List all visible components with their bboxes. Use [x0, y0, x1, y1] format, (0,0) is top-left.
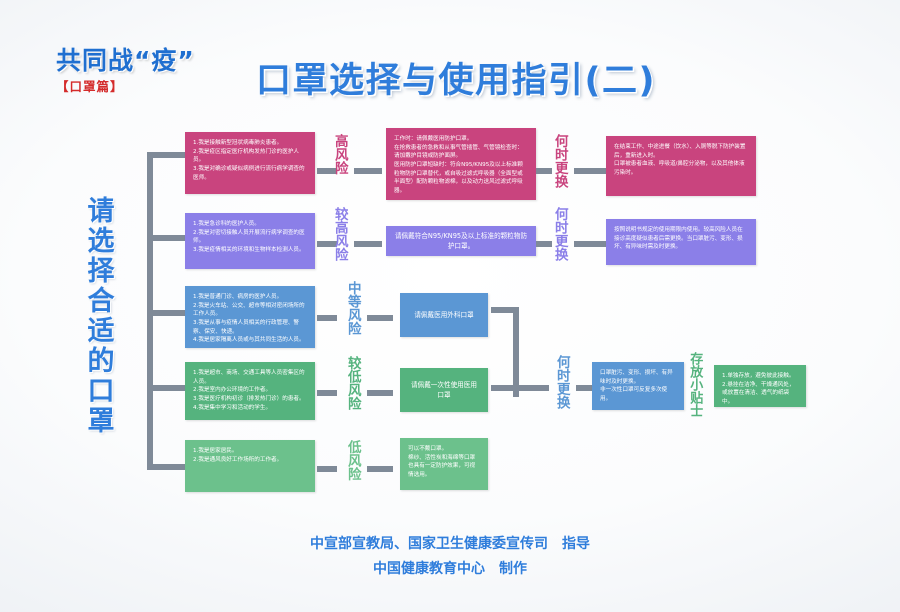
connector-risk-mask-4 — [367, 390, 393, 396]
people-text-low: 1.我是居家居民。 2.我是通风良好工作场所的工作者。 — [193, 447, 307, 464]
when-text-lower: 口罩脏污、变形、损坏、有异味时及时更换。 非一次性口罩可反复多次使用。 — [600, 369, 676, 404]
merge-bracket-out-arm — [513, 385, 549, 391]
mask-box-fairly-low: 请佩戴一次性使用医用口罩 — [400, 368, 488, 412]
when-label-high: 何时更换 — [552, 134, 566, 188]
connector-mask-when-2 — [536, 241, 552, 247]
connector-people-risk-3 — [317, 315, 337, 321]
connector-when-detail-1 — [574, 168, 606, 174]
when-box-lower: 口罩脏污、变形、损坏、有异味时及时更换。 非一次性口罩可反复多次使用。 — [592, 362, 684, 410]
footer-line-1: 中宣部宣教局、国家卫生健康委宣传司 指导 — [0, 532, 900, 557]
storage-tips-text: 1.单独存放，避免彼此接触。 2.悬挂在洁净、干燥通风处，或放置在清洁、透气的纸… — [722, 372, 798, 407]
mask-text-fairly-high: 请佩戴符合N95/KN95及以上标准的颗粒物防护口罩。 — [394, 231, 528, 251]
when-box-fairly-high: 按照说明书规定的使用期限内使用。较高风险人员在接诊高度疑似患者后需更换。当口罩脏… — [606, 219, 756, 265]
risk-label-high: 高风险 — [332, 134, 346, 175]
connector-when-detail-2 — [574, 241, 606, 247]
connector-mask-when-1 — [536, 168, 552, 174]
people-box-fairly-high: 1.我是急诊科的医护人员。 2.我是对密切接触人员开展流行病学调查的医师。 3.… — [185, 213, 315, 269]
connector-risk-mask-2 — [354, 241, 382, 247]
connector-risk-mask-1 — [354, 168, 382, 174]
people-text-fairly-high: 1.我是急诊科的医护人员。 2.我是对密切接触人员开展流行病学调查的医师。 3.… — [193, 220, 307, 255]
bracket-branch-5 — [147, 464, 185, 470]
storage-tips-label: 存放小贴士 — [688, 352, 701, 417]
people-box-high: 1.我是接触新型冠状病毒肺炎患者。 2.我是疫区指定医疗机构发热门诊的医护人员。… — [185, 132, 315, 194]
mask-text-fairly-low: 请佩戴一次性使用医用口罩 — [408, 380, 480, 400]
merge-bracket-vertical — [513, 307, 519, 397]
risk-label-low: 低风险 — [345, 440, 359, 481]
risk-label-medium: 中等风险 — [345, 281, 359, 335]
mask-box-high: 工作时：请佩戴医用防护口罩。 在抢救患者的急救和从事气管插管、气管镜检查时：请加… — [386, 128, 536, 200]
footer-line-2: 中国健康教育中心 制作 — [0, 557, 900, 582]
people-box-low: 1.我是居家居民。 2.我是通风良好工作场所的工作者。 — [185, 440, 315, 492]
mask-box-fairly-high: 请佩戴符合N95/KN95及以上标准的颗粒物防护口罩。 — [386, 226, 536, 256]
people-box-fairly-low: 1.我是超市、商场、交通工具等人员密集区的人员。 2.我是室内办公环境的工作者。… — [185, 362, 315, 420]
connector-people-risk-5 — [317, 466, 337, 472]
page-title: 口罩选择与使用指引(二) — [236, 52, 676, 103]
mask-box-medium: 请佩戴医用外科口罩 — [400, 293, 488, 337]
logo-main-text: 共同战“疫” — [56, 48, 196, 73]
bracket-branch-2 — [147, 235, 185, 241]
risk-label-fairly-high: 较高风险 — [332, 207, 346, 261]
mask-text-high: 工作时：请佩戴医用防护口罩。 在抢救患者的急救和从事气管插管、气管镜检查时：请加… — [394, 135, 528, 196]
when-text-fairly-high: 按照说明书规定的使用期限内使用。较高风险人员在接诊高度疑似患者后需更换。当口罩脏… — [614, 226, 748, 252]
infographic-canvas: 共同战“疫” 【口罩篇】 口罩选择与使用指引(二) 请选择合适的口罩 1.我是接… — [0, 0, 900, 612]
when-text-high: 在结束工作、中途进餐（饮水）、入厕等脱下防护装置后，重新进入时。 口罩被患者血液… — [614, 143, 748, 178]
bracket-branch-1 — [147, 152, 185, 158]
logo-sub-text: 【口罩篇】 — [56, 76, 124, 95]
merge-bracket-top-arm — [491, 307, 519, 313]
risk-label-fairly-low: 较低风险 — [345, 356, 359, 410]
connector-lower-when-detail — [576, 385, 592, 391]
when-box-high: 在结束工作、中途进餐（饮水）、入厕等脱下防护装置后，重新进入时。 口罩被患者血液… — [606, 136, 756, 196]
people-text-medium: 1.我是普通门诊、病房的医护人员。 2.我是火车站、公交、超市等相对密闭场所的工… — [193, 293, 307, 345]
mask-text-low: 可以不戴口罩。 棉纱、活性炭和海绵等口罩也具有一定防护效果，可视情选用。 — [408, 445, 480, 480]
people-text-fairly-low: 1.我是超市、商场、交通工具等人员密集区的人员。 2.我是室内办公环境的工作者。… — [193, 369, 307, 412]
people-text-high: 1.我是接触新型冠状病毒肺炎患者。 2.我是疫区指定医疗机构发热门诊的医护人员。… — [193, 139, 307, 182]
people-box-medium: 1.我是普通门诊、病房的医护人员。 2.我是火车站、公交、超市等相对密闭场所的工… — [185, 286, 315, 348]
storage-tips-box: 1.单独存放，避免彼此接触。 2.悬挂在洁净、干燥通风处，或放置在清洁、透气的纸… — [714, 365, 806, 407]
connector-risk-mask-5 — [367, 466, 393, 472]
when-label-fairly-high: 何时更换 — [552, 207, 566, 261]
bracket-branch-4 — [147, 385, 185, 391]
left-prompt-label: 请选择合适的口罩 — [84, 196, 112, 436]
connector-people-risk-4 — [317, 390, 337, 396]
bracket-branch-3 — [147, 310, 185, 316]
connector-risk-mask-3 — [367, 315, 393, 321]
mask-box-low: 可以不戴口罩。 棉纱、活性炭和海绵等口罩也具有一定防护效果，可视情选用。 — [400, 438, 488, 490]
campaign-logo: 共同战“疫” 【口罩篇】 — [56, 48, 196, 106]
mask-text-medium: 请佩戴医用外科口罩 — [414, 310, 473, 320]
footer-credits: 中宣部宣教局、国家卫生健康委宣传司 指导 中国健康教育中心 制作 — [0, 532, 900, 581]
when-label-lower: 何时更换 — [554, 355, 568, 409]
